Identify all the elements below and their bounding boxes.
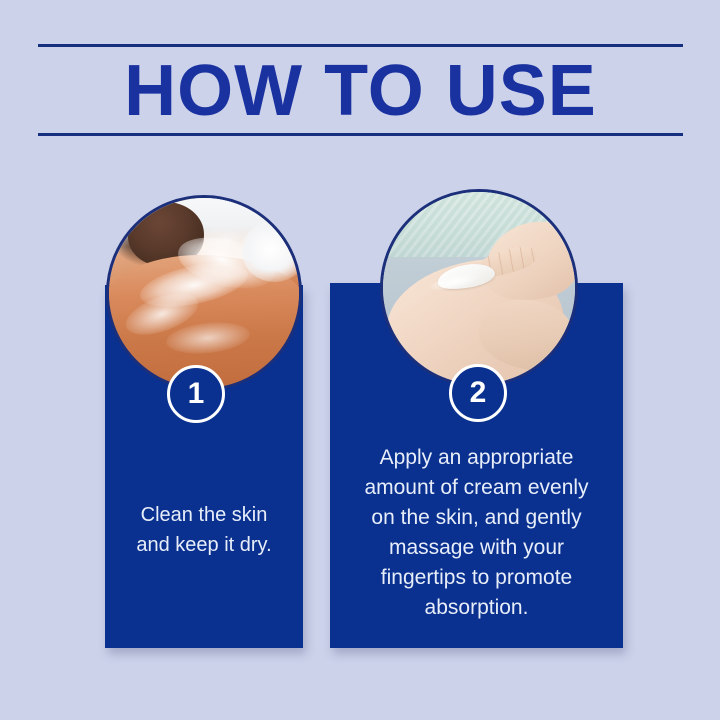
step-1-photo-medallion bbox=[106, 195, 302, 391]
step-2-text: Apply an appropriate amount of cream eve… bbox=[330, 443, 623, 623]
how-to-use-infographic: HOW TO USE Clean the skin and keep it dr… bbox=[0, 0, 720, 720]
photo-foam-c bbox=[242, 221, 302, 282]
step-1-photo bbox=[109, 198, 299, 388]
page-title: HOW TO USE bbox=[38, 49, 683, 133]
header-rule-bottom bbox=[38, 133, 683, 136]
step-2-number-badge: 2 bbox=[449, 364, 507, 422]
step-2-photo-medallion bbox=[380, 189, 578, 387]
header-rule-top bbox=[38, 44, 683, 47]
step-1-text: Clean the skin and keep it dry. bbox=[105, 500, 303, 560]
step-1-number-badge: 1 bbox=[167, 365, 225, 423]
step-2-photo bbox=[383, 192, 575, 384]
header: HOW TO USE bbox=[38, 44, 683, 136]
